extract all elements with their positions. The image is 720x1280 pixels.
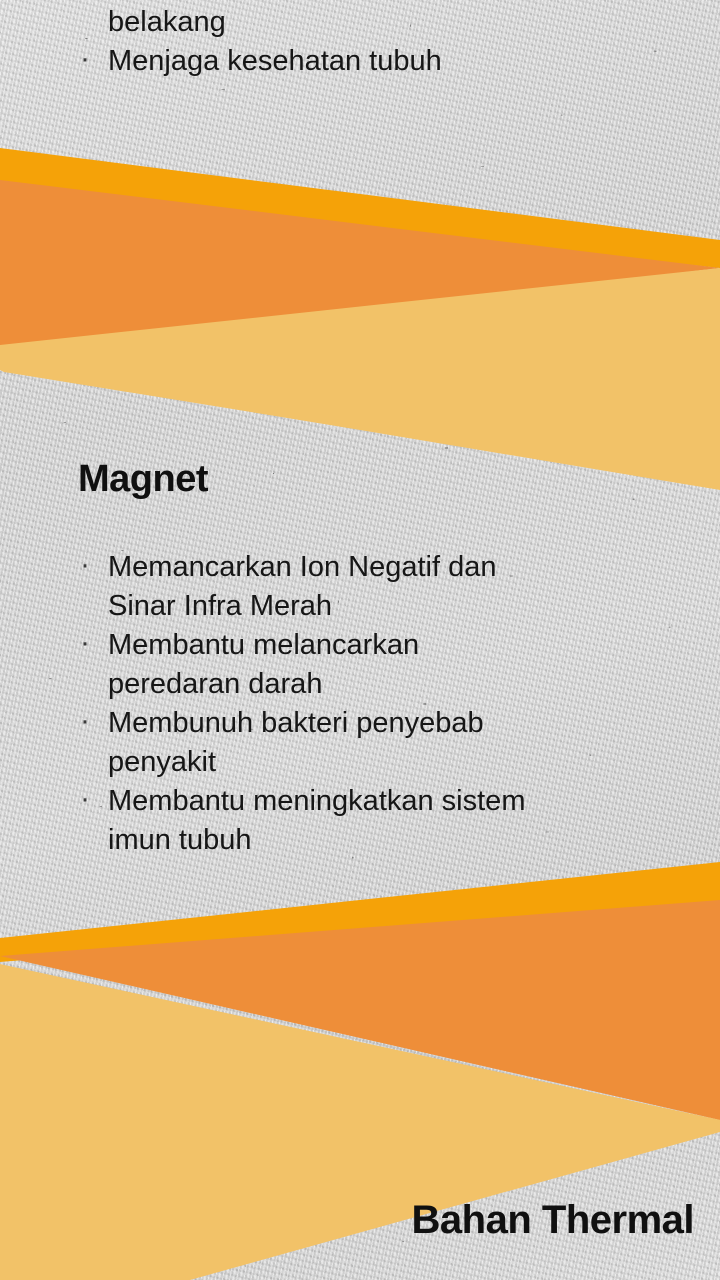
bahan-thermal-heading: Bahan Thermal <box>412 1196 694 1244</box>
list-item: Membantu meningkatkan sistem <box>72 782 692 821</box>
magnet-heading: Magnet <box>78 456 208 502</box>
list-item: Membantu melancarkan <box>72 626 692 665</box>
list-item: peredaran darah <box>72 665 692 704</box>
bullet-list: Memancarkan Ion Negatif dan Sinar Infra … <box>72 548 692 860</box>
list-item: imun tubuh <box>72 821 692 860</box>
list-item: Memancarkan Ion Negatif dan <box>72 548 692 587</box>
top-partial-bullet-list: tulang pinggul dan tulang belakang Menja… <box>72 0 672 81</box>
list-item: penyakit <box>72 743 692 782</box>
list-item: Menjaga kesehatan tubuh <box>72 42 672 81</box>
bullet-list: tulang pinggul dan tulang belakang Menja… <box>72 0 672 81</box>
list-item: Sinar Infra Merah <box>72 587 692 626</box>
list-item: belakang <box>72 3 672 42</box>
magnet-bullet-list: Memancarkan Ion Negatif dan Sinar Infra … <box>72 548 692 860</box>
list-item: Membunuh bakteri penyebab <box>72 704 692 743</box>
slide-canvas: tulang pinggul dan tulang belakang Menja… <box>0 0 720 1280</box>
